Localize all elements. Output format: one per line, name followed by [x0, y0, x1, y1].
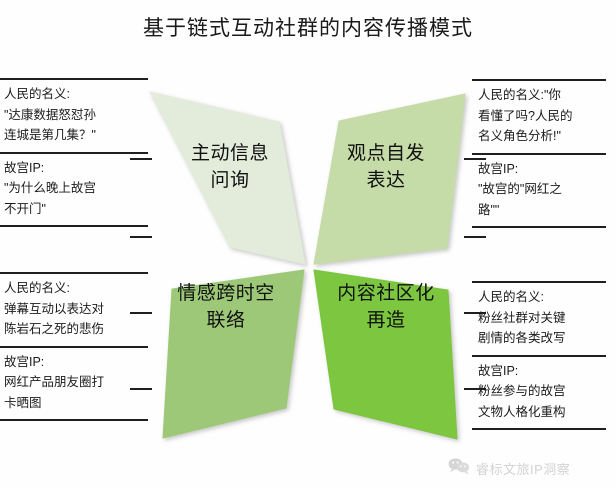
- annotation-entry: 故宫IP: 网红产品朋友圈打 卡晒图: [0, 348, 152, 420]
- annotation-entry: 故宫IP: "为什么晚上故宫 不开门": [0, 154, 152, 226]
- divider: [472, 226, 606, 228]
- annotation-key: 人民的名义:: [478, 287, 610, 308]
- quadrant-diagram: 主动信息 问询 观点自发 表达 情感跨时空 联络 内容社区化 再造: [138, 84, 482, 446]
- annotation-value: 粉丝社群对关键 剧情的各类改写: [478, 308, 610, 349]
- divider: [0, 225, 148, 227]
- annotation-entry: 故宫IP: 粉丝参与的故宫 文物人格化重构: [472, 357, 616, 429]
- wechat-icon: [448, 457, 470, 480]
- annotation-entry: 故宫IP: "故宫的"网红之 路"": [472, 155, 616, 227]
- annotation-block-top-left: 人民的名义: "达康数据怒怼孙 连城是第几集？" 故宫IP: "为什么晚上故宫 …: [0, 78, 152, 227]
- annotation-key: 故宫IP:: [4, 158, 146, 179]
- annotation-key: 人民的名义:: [478, 88, 544, 102]
- annotation-key: 故宫IP:: [4, 352, 146, 373]
- annotation-key: 故宫IP:: [478, 159, 610, 180]
- annotation-value: 粉丝参与的故宫 文物人格化重构: [478, 381, 610, 422]
- connector-tick-right-2: [464, 236, 486, 238]
- annotation-value: 弹幕互动以表达对 陈岩石之死的悲伤: [4, 299, 146, 340]
- annotation-key: 人民的名义:: [4, 278, 146, 299]
- annotation-entry: 人民的名义: "达康数据怒怼孙 连城是第几集？": [0, 80, 152, 152]
- watermark-text: 睿标文旅IP洞察: [476, 459, 570, 478]
- quadrant-shape-top-left[interactable]: [150, 92, 305, 264]
- annotation-key: 人民的名义:: [4, 84, 146, 105]
- connector-tick-left-2: [130, 236, 152, 238]
- annotation-entry: 人民的名义:"你 看懂了吗?人民的 名义角色分析!": [472, 81, 616, 153]
- quadrant-shapes: [138, 84, 482, 446]
- annotation-value: "为什么晚上故宫 不开门": [4, 178, 146, 219]
- annotation-value: 网红产品朋友圈打 卡晒图: [4, 372, 146, 413]
- annotation-value: "故宫的"网红之 路"": [478, 179, 610, 220]
- divider: [472, 428, 606, 430]
- quadrant-shape-bottom-left[interactable]: [163, 270, 304, 438]
- slide-canvas: 基于链式互动社群的内容传播模式 主动信息 问询 观点自发 表达 情感跨时空 联络…: [0, 0, 616, 488]
- divider: [0, 419, 148, 421]
- annotation-block-bottom-left: 人民的名义: 弹幕互动以表达对 陈岩石之死的悲伤 故宫IP: 网红产品朋友圈打 …: [0, 272, 152, 421]
- annotation-entry: 人民的名义: 弹幕互动以表达对 陈岩石之死的悲伤: [0, 274, 152, 346]
- page-title: 基于链式互动社群的内容传播模式: [0, 14, 616, 44]
- annotation-value: "达康数据怒怼孙 连城是第几集？": [4, 105, 146, 146]
- annotation-key: 故宫IP:: [478, 361, 610, 382]
- watermark: 睿标文旅IP洞察: [448, 456, 608, 480]
- quadrant-shape-top-right[interactable]: [314, 94, 465, 264]
- quadrant-shape-bottom-right[interactable]: [314, 270, 457, 439]
- annotation-entry: 人民的名义: 粉丝社群对关键 剧情的各类改写: [472, 283, 616, 355]
- annotation-block-top-right: 人民的名义:"你 看懂了吗?人民的 名义角色分析!" 故宫IP: "故宫的"网红…: [472, 79, 616, 228]
- annotation-block-bottom-right: 人民的名义: 粉丝社群对关键 剧情的各类改写 故宫IP: 粉丝参与的故宫 文物人…: [472, 281, 616, 430]
